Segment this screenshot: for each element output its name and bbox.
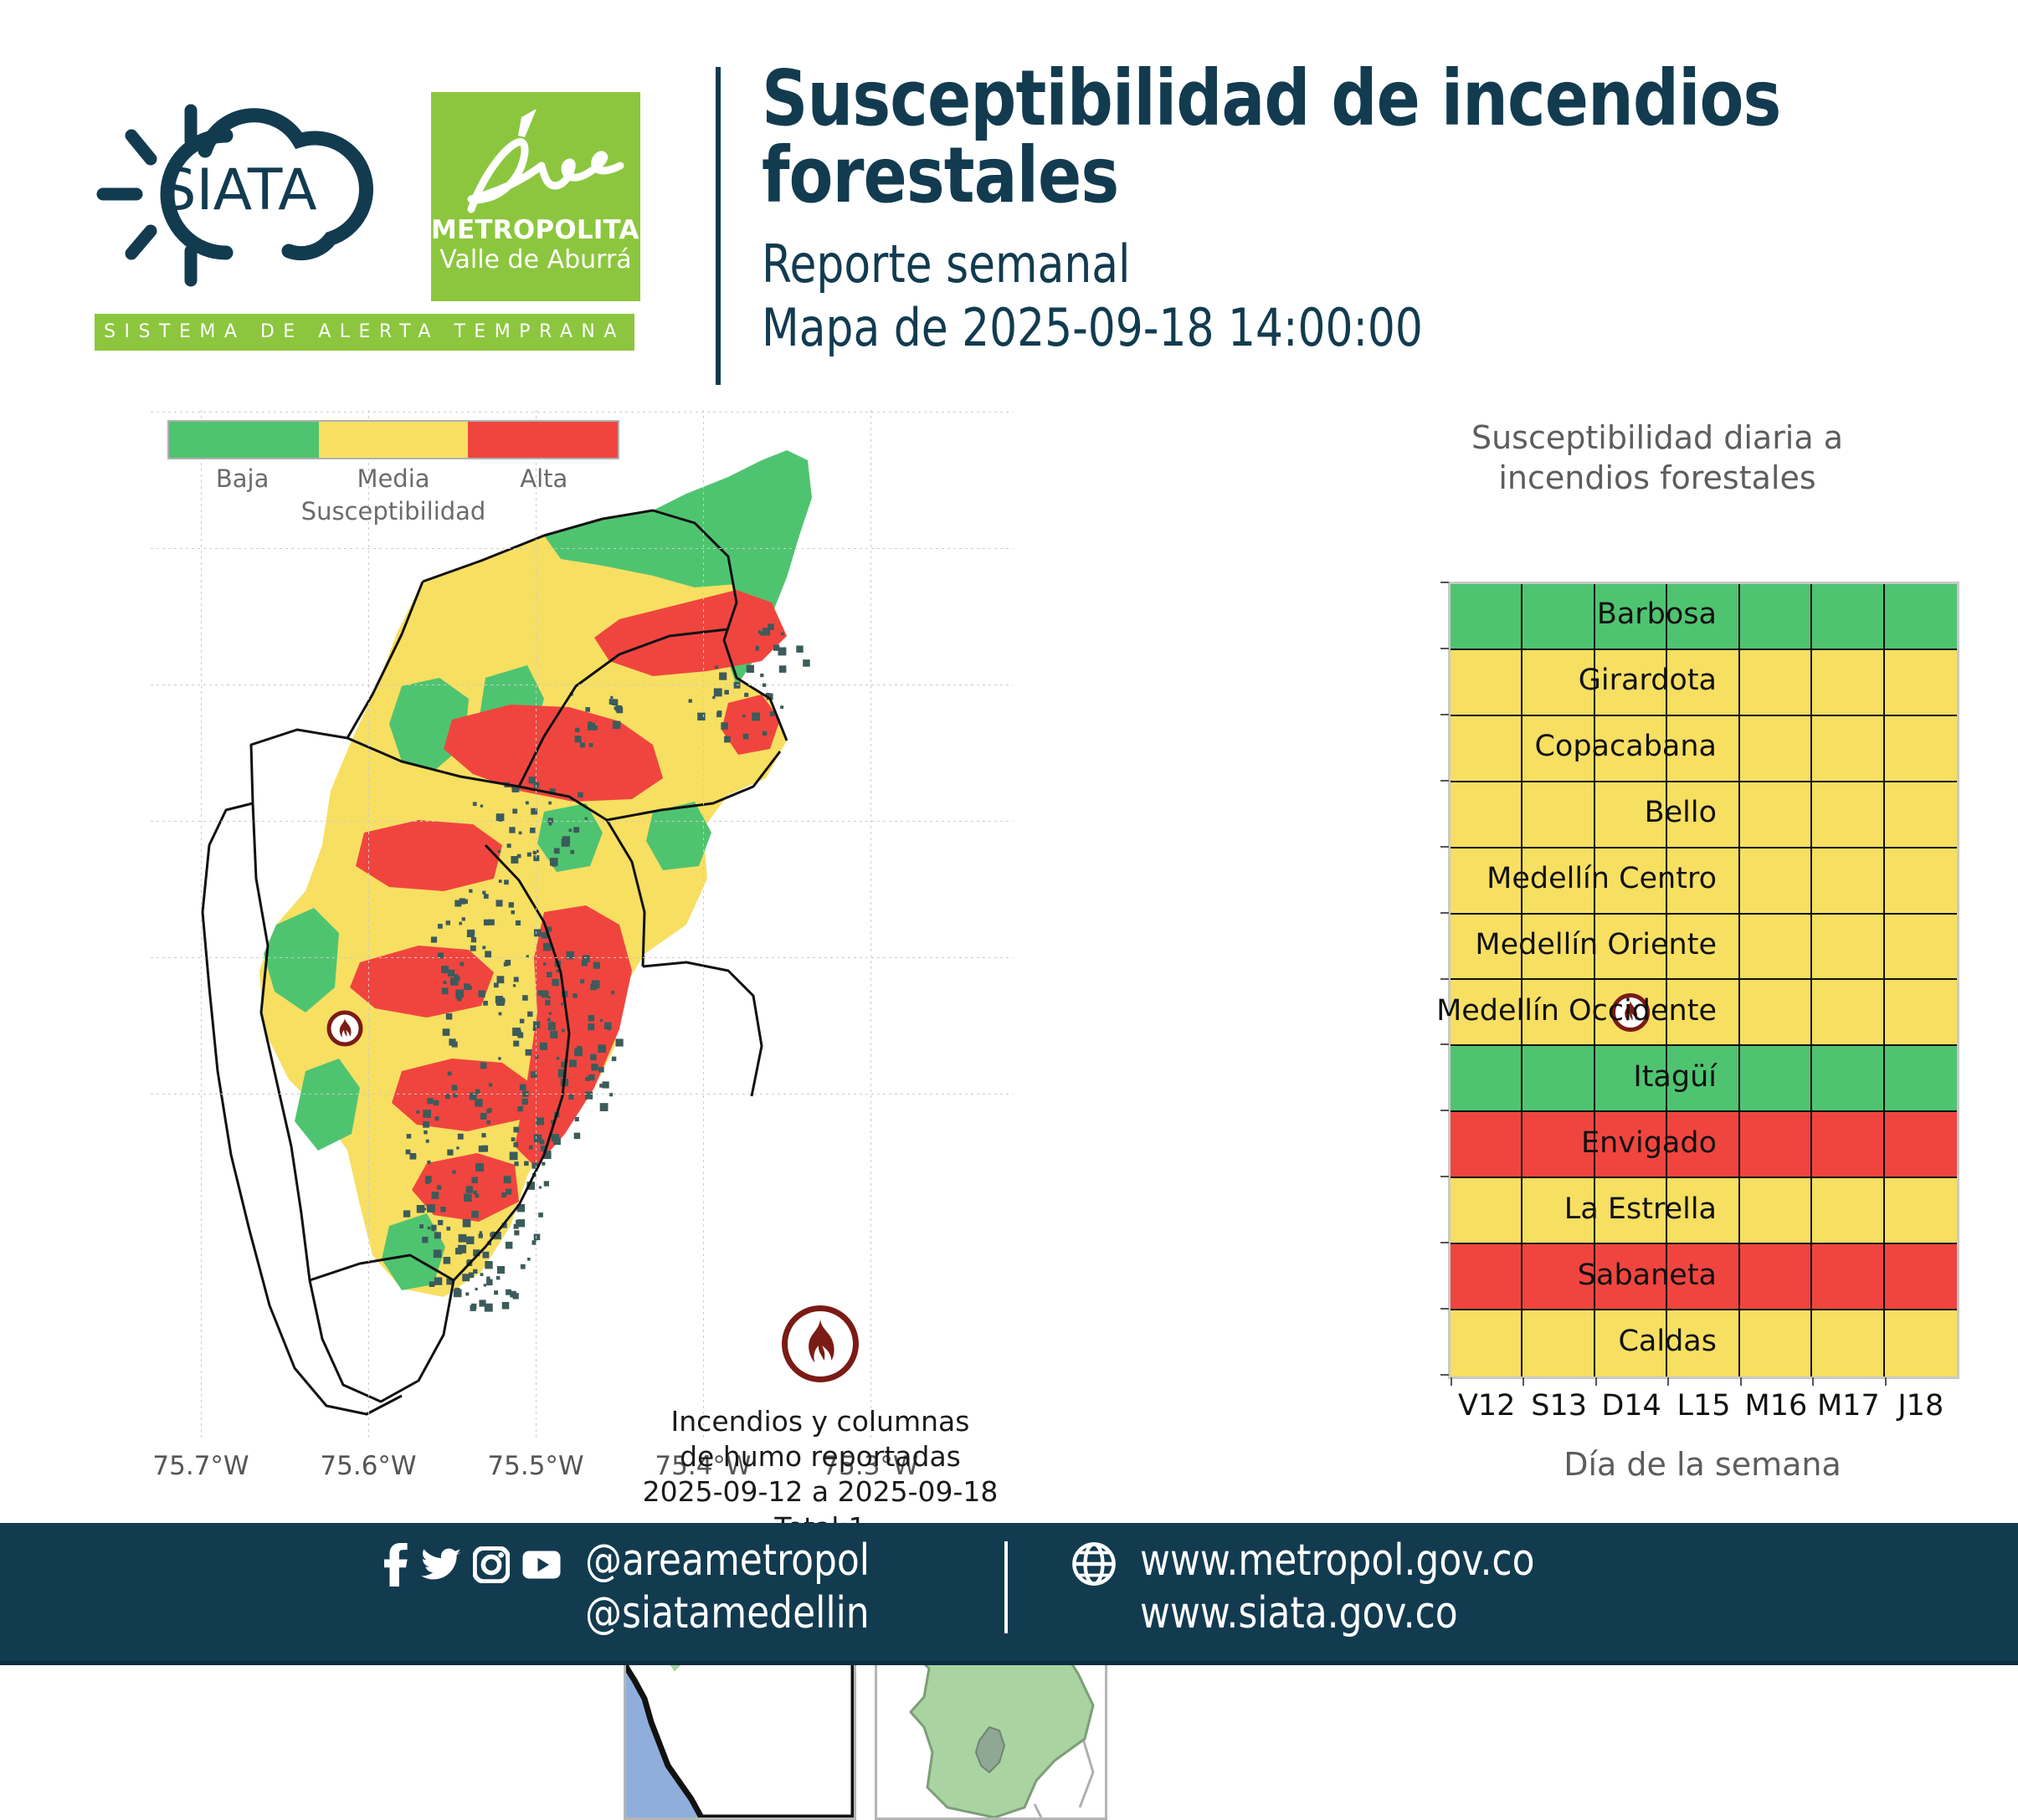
heatmap-row-label: Medellín Occidente <box>1436 994 1717 1028</box>
map-urban-pixel <box>480 1231 482 1233</box>
heatmap-column-tick <box>1522 1377 1524 1386</box>
map-urban-pixel <box>610 696 613 699</box>
map-urban-pixel <box>499 1013 502 1016</box>
heatmap-row-tick <box>1440 1308 1449 1310</box>
map-urban-pixel <box>466 1186 473 1192</box>
map-urban-pixel <box>454 974 458 978</box>
map-urban-pixel <box>498 1057 501 1059</box>
map-urban-pixel <box>444 1257 451 1264</box>
url-siata[interactable]: www.siata.gov.co <box>1140 1587 1534 1640</box>
map-urban-pixel <box>585 818 588 820</box>
map-urban-pixel <box>423 1121 429 1128</box>
map-gridline-horizontal <box>151 957 1013 958</box>
heatmap-cell <box>1740 1310 1812 1377</box>
map-urban-pixel <box>431 936 437 942</box>
map-urban-pixel <box>580 742 585 747</box>
heatmap-cell <box>1812 1046 1884 1112</box>
map-urban-pixel <box>545 1000 550 1005</box>
heatmap-cell <box>1522 1310 1594 1377</box>
siata-tagline: SISTEMA DE ALERTA TEMPRANA <box>95 314 634 351</box>
map-urban-pixel <box>483 1001 488 1006</box>
handle-siatamedellin[interactable]: @siatamedellin <box>585 1587 870 1640</box>
heatmap-cell <box>1740 650 1812 716</box>
heatmap-cell <box>1812 1112 1884 1178</box>
map-urban-pixel <box>510 1152 518 1161</box>
map-urban-pixel <box>516 920 521 925</box>
map-gridline-horizontal <box>151 412 1013 413</box>
map-urban-pixel <box>557 970 560 973</box>
map-urban-pixel <box>540 1043 547 1050</box>
heatmap-cell <box>1885 1310 1957 1377</box>
fire-icon <box>782 1305 859 1382</box>
map-urban-pixel <box>485 1261 492 1269</box>
map-urban-pixel <box>485 1304 493 1312</box>
map-urban-pixel <box>569 828 573 832</box>
map-longitude-tick: 75.7°W <box>152 1451 249 1481</box>
map-urban-pixel <box>480 1273 484 1276</box>
map-urban-pixel <box>758 630 762 633</box>
map-urban-pixel <box>513 984 516 987</box>
map-urban-pixel <box>527 1258 531 1261</box>
heatmap-cell <box>1451 584 1522 650</box>
map-urban-pixel <box>496 900 503 906</box>
map-urban-pixel <box>513 1041 519 1047</box>
colorbar-title: Susceptibilidad <box>167 497 619 525</box>
heatmap-column-tick <box>1740 1377 1742 1386</box>
map-urban-pixel <box>413 1155 417 1159</box>
heatmap-row-label: Bello <box>1645 796 1717 829</box>
map-urban-pixel <box>482 946 485 949</box>
map-gridline-vertical <box>703 410 704 1439</box>
map-urban-pixel <box>752 713 760 721</box>
map-urban-pixel <box>552 979 558 986</box>
map-gridline-vertical <box>870 410 871 1439</box>
map-urban-pixel <box>517 854 521 859</box>
map-urban-pixel <box>471 937 476 942</box>
map-urban-pixel <box>521 1099 528 1105</box>
map-urban-pixel <box>434 1277 442 1284</box>
handle-areametropol[interactable]: @areametropol <box>585 1535 870 1587</box>
map-urban-pixel <box>454 1288 460 1293</box>
map-urban-pixel <box>448 1072 452 1076</box>
map-urban-pixel <box>483 1252 490 1259</box>
map-urban-pixel <box>744 693 748 697</box>
map-urban-pixel <box>527 1012 532 1017</box>
heatmap-cell <box>1885 1046 1957 1112</box>
map-urban-pixel <box>465 1292 469 1295</box>
map-urban-pixel <box>514 1224 519 1229</box>
heatmap-row-label: Copacabana <box>1534 730 1717 763</box>
map-urban-pixel <box>593 725 598 731</box>
header-divider <box>716 67 721 385</box>
social-icon-row <box>381 1543 562 1590</box>
map-urban-pixel <box>434 1232 441 1238</box>
heatmap-title-line1: Susceptibilidad diaria a <box>1314 418 2000 459</box>
map-urban-pixel <box>458 1134 464 1140</box>
map-urban-pixel <box>442 987 449 994</box>
map-gridline-horizontal <box>151 548 1013 549</box>
map-urban-pixel <box>496 996 503 1003</box>
map-urban-pixel <box>796 646 803 653</box>
map-urban-pixel <box>475 1288 478 1290</box>
map-date: Mapa de 2025-09-18 14:00:00 <box>762 296 1882 360</box>
map-urban-pixel <box>484 894 489 899</box>
map-urban-pixel <box>458 1245 466 1253</box>
map-urban-pixel <box>598 1067 604 1073</box>
map-urban-pixel <box>585 707 590 712</box>
colorbar-segment-media <box>319 422 469 458</box>
map-urban-pixel <box>416 1110 419 1114</box>
map-urban-pixel <box>475 1194 480 1198</box>
heatmap-cell <box>1740 1112 1812 1178</box>
map-urban-pixel <box>598 1044 606 1053</box>
heatmap-column-tick <box>1595 1377 1597 1386</box>
heatmap-row-label: La Estrella <box>1564 1192 1717 1226</box>
map-urban-pixel <box>781 633 784 636</box>
map-urban-pixel <box>514 1161 518 1166</box>
map-urban-pixel <box>585 1092 593 1100</box>
title-block: Susceptibilidad de incendios forestales … <box>762 60 1967 359</box>
map-urban-pixel <box>554 849 557 852</box>
map-urban-pixel <box>526 802 529 805</box>
map-urban-pixel <box>496 1276 501 1280</box>
map-longitude-tick: 75.5°W <box>487 1451 583 1481</box>
map-urban-pixel <box>452 1042 458 1048</box>
map-urban-pixel <box>484 920 490 925</box>
map-urban-pixel <box>548 802 552 805</box>
heatmap-title: Susceptibilidad diaria a incendios fores… <box>1314 418 2000 499</box>
footer: @areametropol @siatamedellin www.metropo… <box>0 1523 2018 1665</box>
map-urban-pixel <box>446 1227 450 1231</box>
map-region <box>392 1059 531 1131</box>
map-urban-pixel <box>574 1048 583 1057</box>
map-urban-pixel <box>437 1185 441 1189</box>
heatmap-column-label: L15 <box>1677 1389 1730 1423</box>
map-urban-pixel <box>600 1103 608 1111</box>
map-urban-pixel <box>593 962 600 969</box>
map-urban-pixel <box>580 979 584 983</box>
map-urban-pixel <box>486 1120 490 1125</box>
map-urban-pixel <box>504 879 509 884</box>
heatmap-row-tick <box>1440 1176 1449 1177</box>
heatmap-cell <box>1812 782 1884 848</box>
map-urban-pixel <box>424 1130 428 1135</box>
map-urban-pixel <box>589 743 593 747</box>
map-urban-pixel <box>527 853 531 857</box>
heatmap-cell <box>1812 716 1884 782</box>
fire-legend-line1: Incendios y columnas <box>603 1404 1038 1439</box>
map-urban-pixel <box>427 1161 430 1164</box>
map-urban-pixel <box>611 991 614 994</box>
map-urban-pixel <box>521 1264 526 1269</box>
map-urban-pixel <box>506 1242 513 1249</box>
map-urban-pixel <box>591 1064 598 1070</box>
colorbar-labels: Baja Media Alta <box>167 464 619 495</box>
map-urban-pixel <box>538 1212 543 1218</box>
heatmap-column-label: V12 <box>1458 1389 1515 1423</box>
map-urban-pixel <box>456 990 465 998</box>
facebook-icon[interactable] <box>381 1543 409 1590</box>
area-logo-line1: METROPOLITANA <box>431 218 640 244</box>
map-urban-pixel <box>473 1269 477 1274</box>
map-urban-pixel <box>484 1284 486 1286</box>
map-urban-pixel <box>716 712 721 717</box>
map-urban-pixel <box>542 1162 545 1166</box>
map-urban-pixel <box>542 991 549 998</box>
map-urban-pixel <box>464 983 470 990</box>
map-urban-pixel <box>553 1137 561 1145</box>
map-urban-pixel <box>599 1084 603 1088</box>
map-urban-pixel <box>440 1207 445 1212</box>
map-urban-pixel <box>760 674 763 677</box>
map-urban-pixel <box>463 1219 471 1228</box>
map-urban-pixel <box>510 1291 516 1298</box>
map-urban-pixel <box>714 689 722 697</box>
map-urban-pixel <box>435 1116 439 1120</box>
heatmap-cell <box>1740 915 1812 981</box>
map-urban-pixel <box>424 1207 426 1210</box>
heatmap-row-tick <box>1440 1242 1449 1243</box>
map-urban-pixel <box>724 736 731 743</box>
map-urban-pixel <box>712 696 715 699</box>
heatmap-cell <box>1885 980 1957 1046</box>
map-urban-pixel <box>543 943 552 951</box>
heatmap-cell <box>1885 584 1957 650</box>
map-urban-pixel <box>427 1098 433 1104</box>
siata-logo-text: SIATA <box>160 157 316 223</box>
heatmap-cell <box>1885 848 1957 915</box>
heatmap-cell <box>1740 1046 1812 1112</box>
map-urban-pixel <box>742 715 745 717</box>
map-urban-pixel <box>721 722 728 730</box>
map-urban-pixel <box>526 1049 532 1056</box>
map-urban-pixel <box>464 1194 472 1202</box>
heatmap-row-tick <box>1440 714 1449 715</box>
page-title-line1: Susceptibilidad de incendios <box>762 60 1882 137</box>
map-urban-pixel <box>498 850 501 854</box>
map-urban-pixel <box>475 1163 484 1171</box>
map-urban-pixel <box>480 1063 487 1069</box>
siata-logo: SIATA <box>80 92 406 301</box>
map-urban-pixel <box>547 996 550 998</box>
map-urban-pixel <box>689 700 692 703</box>
map-urban-pixel <box>537 1117 544 1125</box>
map-urban-pixel <box>583 955 590 962</box>
map-urban-pixel <box>445 1095 450 1100</box>
map-urban-pixel <box>426 1140 429 1143</box>
map-urban-pixel <box>469 889 472 893</box>
map-urban-pixel <box>471 1177 478 1184</box>
heatmap-row-tick <box>1440 780 1449 782</box>
footer-handles: @areametropol @siatamedellin <box>585 1535 870 1641</box>
header: SIATA METROPOLITANA Valle de Aburrá SIST… <box>0 0 2018 393</box>
heatmap-cell <box>1451 1046 1522 1112</box>
susceptibility-colorbar <box>167 420 619 459</box>
map-urban-pixel <box>779 665 787 673</box>
map-urban-pixel <box>513 1142 518 1147</box>
map-urban-pixel <box>456 1146 459 1149</box>
map-urban-pixel <box>470 1305 476 1311</box>
map-urban-pixel <box>568 1095 573 1100</box>
map-urban-pixel <box>557 1057 560 1060</box>
heatmap-row-tick <box>1440 1043 1449 1045</box>
twitter-icon[interactable] <box>421 1545 461 1588</box>
map-urban-pixel <box>719 673 727 680</box>
heatmap-column-tick <box>1812 1377 1814 1386</box>
area-logo-script <box>431 99 640 224</box>
map-urban-pixel <box>462 1274 470 1281</box>
heatmap-column-tick <box>1667 1377 1669 1386</box>
map-urban-pixel <box>466 1237 474 1244</box>
heatmap-cell <box>1812 1244 1884 1310</box>
map-urban-pixel <box>434 1249 442 1258</box>
susceptibility-map <box>151 410 1013 1439</box>
map-urban-pixel <box>578 792 583 798</box>
colorbar-segment-alta <box>468 422 618 458</box>
map-urban-pixel <box>504 1176 511 1183</box>
map-urban-pixel <box>481 1133 485 1137</box>
map-urban-pixel <box>592 981 600 989</box>
map-gridline-horizontal <box>151 684 1013 685</box>
fire-icon <box>329 1013 361 1044</box>
map-urban-pixel <box>446 920 450 925</box>
map-urban-pixel <box>517 1033 523 1038</box>
map-urban-pixel <box>471 1211 479 1218</box>
map-urban-pixel <box>514 977 519 982</box>
map-urban-pixel <box>473 802 477 806</box>
map-urban-pixel <box>524 1161 529 1166</box>
heatmap-xaxis-label: Día de la semana <box>1448 1446 1957 1483</box>
map-urban-pixel <box>509 827 515 833</box>
map-urban-pixel <box>479 1233 483 1238</box>
map-urban-pixel <box>512 809 517 814</box>
map-urban-pixel <box>574 1133 581 1140</box>
heatmap-cell <box>1885 716 1957 782</box>
heatmap-cell <box>1812 650 1884 716</box>
heatmap-cell <box>1812 980 1884 1046</box>
heatmap-row-tick <box>1440 1374 1449 1376</box>
map-urban-pixel <box>443 1028 450 1036</box>
map-urban-pixel <box>616 1038 624 1046</box>
map-urban-pixel <box>743 734 749 740</box>
map-urban-pixel <box>438 924 443 929</box>
map-urban-pixel <box>770 711 775 716</box>
logo-group: SIATA METROPOLITANA Valle de Aburrá SIST… <box>80 92 632 368</box>
heatmap-column-label: J18 <box>1897 1389 1944 1423</box>
map-urban-pixel <box>441 966 449 973</box>
heatmap-cell <box>1885 650 1957 716</box>
heatmap-cell <box>1740 716 1812 782</box>
heatmap-row-label: Itagüí <box>1633 1060 1717 1094</box>
heatmap-cell <box>1451 650 1522 716</box>
map-longitude-tick: 75.6°W <box>320 1451 416 1481</box>
map-urban-pixel <box>434 1100 439 1106</box>
heatmap-row-label: Girardota <box>1579 664 1717 697</box>
map-urban-pixel <box>570 850 574 854</box>
map-urban-pixel <box>419 1224 424 1228</box>
map-urban-pixel <box>481 1146 488 1152</box>
map-urban-pixel <box>561 1002 563 1005</box>
map-urban-pixel <box>575 728 579 732</box>
map-urban-pixel <box>511 1137 516 1141</box>
heatmap-cell <box>1740 980 1812 1046</box>
map-urban-pixel <box>803 659 810 667</box>
map-region <box>643 962 762 1096</box>
map-gridline-vertical <box>201 410 202 1439</box>
map-urban-pixel <box>522 995 528 1001</box>
map-urban-pixel <box>539 1187 542 1189</box>
heatmap-cell <box>1740 782 1812 848</box>
area-metropolitana-logo: METROPOLITANA Valle de Aburrá <box>431 92 640 301</box>
heatmap-cell <box>1812 1178 1884 1244</box>
map-urban-pixel <box>460 962 464 966</box>
map-urban-pixel <box>446 1013 453 1020</box>
map-urban-pixel <box>499 879 502 883</box>
heatmap-column-tick <box>1885 1377 1887 1386</box>
map-urban-pixel <box>756 646 759 649</box>
heatmap-row-label: Barbosa <box>1597 597 1717 631</box>
map-urban-pixel <box>529 1146 533 1150</box>
map-urban-pixel <box>724 690 729 695</box>
map-urban-pixel <box>562 1029 565 1033</box>
heatmap-row-label: Envigado <box>1581 1126 1717 1160</box>
url-metropol[interactable]: www.metropol.gov.co <box>1140 1535 1534 1587</box>
map-urban-pixel <box>519 832 522 835</box>
map-urban-pixel <box>432 1228 435 1231</box>
map-urban-pixel <box>715 665 718 669</box>
colorbar-label-baja: Baja <box>216 464 270 493</box>
heatmap-cell <box>1885 1112 1957 1178</box>
map-urban-pixel <box>534 1234 541 1241</box>
map-urban-pixel <box>513 1028 517 1032</box>
footer-bottom-rule <box>0 1661 2018 1665</box>
heatmap-cell <box>1451 716 1522 782</box>
map-urban-pixel <box>612 1057 617 1062</box>
colorbar-label-alta: Alta <box>520 464 567 493</box>
heatmap-cell <box>1885 782 1957 848</box>
instagram-icon[interactable] <box>473 1546 510 1587</box>
map-urban-pixel <box>428 1227 431 1230</box>
map-gridline-horizontal <box>151 1094 1013 1095</box>
heatmap-cell <box>1885 1244 1957 1310</box>
map-urban-pixel <box>452 1085 458 1091</box>
heatmap-row-label: Caldas <box>1618 1325 1717 1358</box>
map-urban-pixel <box>425 1180 429 1184</box>
heatmap-cell <box>1451 1310 1522 1377</box>
map-urban-pixel <box>444 981 447 984</box>
fire-legend-line2: de humo reportadas <box>603 1439 1038 1474</box>
footer-urls: www.metropol.gov.co www.siata.gov.co <box>1140 1535 1534 1641</box>
map-urban-pixel <box>763 731 768 736</box>
youtube-icon[interactable] <box>521 1549 562 1584</box>
map-urban-pixel <box>608 1028 610 1030</box>
globe-icon <box>1071 1541 1117 1590</box>
map-urban-pixel <box>514 1230 519 1235</box>
map-urban-pixel <box>530 828 536 833</box>
map-urban-pixel <box>747 665 754 673</box>
map-urban-pixel <box>505 960 511 966</box>
map-urban-pixel <box>489 1083 492 1086</box>
heatmap-cell <box>1812 1310 1884 1377</box>
map-urban-pixel <box>486 1109 490 1113</box>
heatmap-column-label: S13 <box>1531 1389 1587 1423</box>
map-urban-pixel <box>585 1077 589 1081</box>
map-urban-pixel <box>511 910 516 915</box>
heatmap-row-tick <box>1440 1110 1449 1111</box>
heatmap-cell <box>1740 1244 1812 1310</box>
map-urban-pixel <box>459 922 462 925</box>
map-urban-pixel <box>613 721 621 730</box>
